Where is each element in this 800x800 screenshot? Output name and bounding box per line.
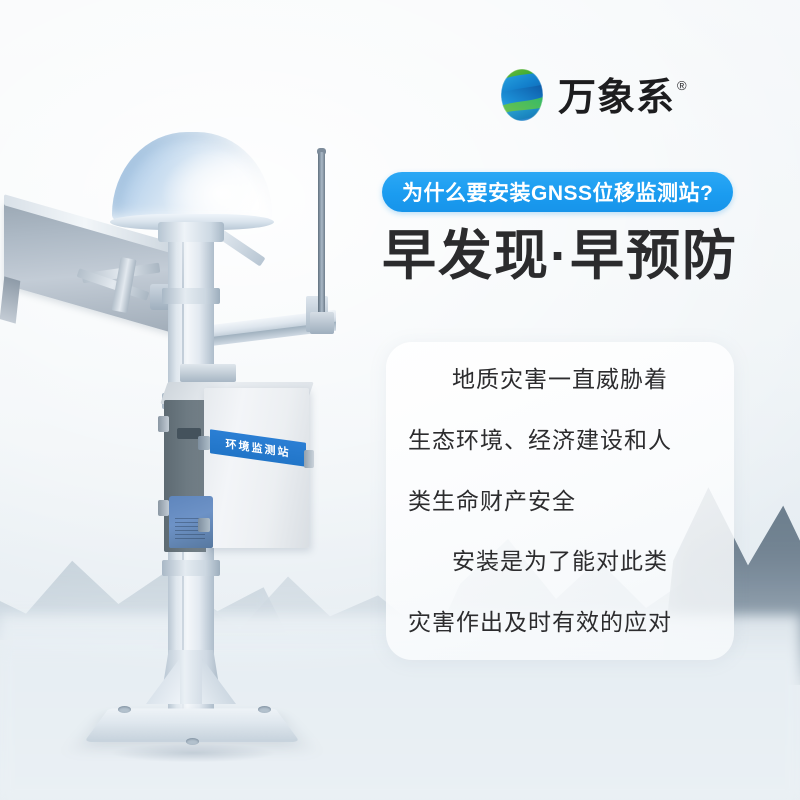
whip-antenna-base [310, 312, 334, 334]
base-gusset-left [146, 658, 180, 704]
question-banner-text: 为什么要安装GNSS位移监测站? [402, 177, 713, 207]
cabinet-tab-upper [198, 436, 210, 450]
question-banner: 为什么要安装GNSS位移监测站? [382, 172, 733, 212]
whip-antenna [318, 152, 325, 324]
cabinet-latch [304, 450, 314, 468]
description-line: 灾害作出及时有效的应对 [408, 611, 712, 634]
brand-name: 万象系® [558, 79, 686, 117]
cabinet-label-text: 环境监测站 [226, 435, 291, 460]
base-bolt-hole-right [258, 706, 271, 713]
registered-trademark-icon: ® [677, 78, 688, 93]
description-line: 生态环境、经济建设和人 [408, 429, 712, 452]
product-illustration: 环境监测站 [0, 90, 360, 750]
pole-collar-lower [162, 560, 220, 576]
base-plate [84, 708, 300, 741]
cabinet-hinge-upper [158, 416, 169, 432]
cabinet-front-panel [204, 388, 309, 548]
description-card-lines: 地质灾害一直威胁着 生态环境、经济建设和人 类生命财产安全 安装是为了能对此类 … [386, 342, 734, 660]
solar-panel-frame-left [0, 276, 20, 323]
gnss-radome-antenna [112, 132, 272, 222]
description-line: 类生命财产安全 [408, 490, 712, 513]
gnss-radome-neck [158, 222, 224, 242]
cabinet-pole-bracket [180, 364, 236, 382]
description-card: 地质灾害一直威胁着 生态环境、经济建设和人 类生命财产安全 安装是为了能对此类 … [386, 342, 734, 660]
base-bolt-hole-front [186, 738, 199, 745]
cabinet-tab-lower [198, 518, 210, 532]
base-bolt-hole-left [118, 706, 131, 713]
page-title: 早发现·早预防 [382, 228, 738, 285]
description-line: 地质灾害一直威胁着 [408, 368, 712, 391]
brand-name-text: 万象系 [558, 77, 675, 119]
globe-swirl-logo-icon [496, 66, 548, 124]
poster-canvas: 环境监测站 [0, 0, 800, 800]
base-gusset-right [202, 658, 236, 704]
cabinet-hinge-lower [158, 500, 169, 516]
control-cabinet: 环境监测站 [152, 378, 312, 558]
description-line: 安装是为了能对此类 [408, 550, 712, 573]
brand-lockup: 万象系® [496, 66, 686, 124]
pole-collar-upper [162, 288, 220, 304]
